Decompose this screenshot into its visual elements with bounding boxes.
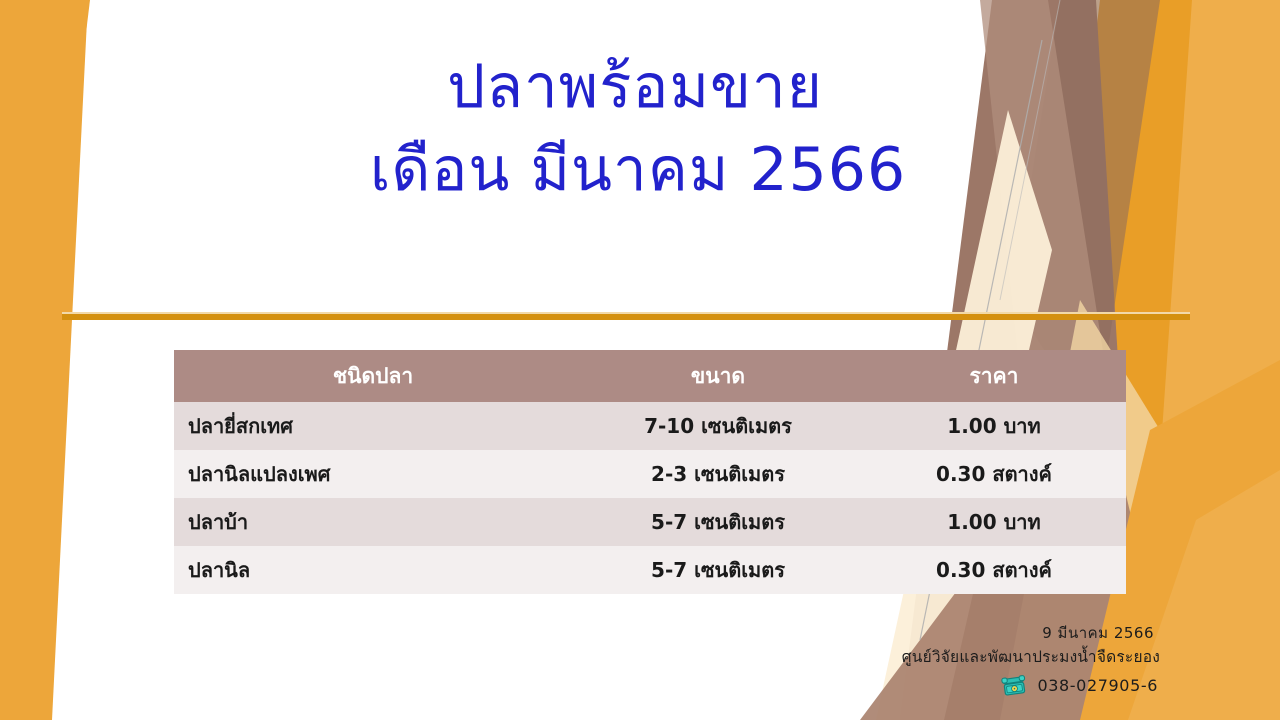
footer-phone-number: 038-027905-6 <box>1037 676 1158 695</box>
table-header-row: ชนิดปลา ขนาด ราคา <box>174 350 1126 402</box>
slide-canvas: ปลาพร้อมขาย เดือน มีนาคม 2566 ชนิดปลา ขน… <box>0 0 1280 720</box>
cell-size: 5-7 เซนติเมตร <box>574 546 862 594</box>
cell-price: 0.30 สตางค์ <box>862 450 1126 498</box>
cell-fish-type: ปลานิลแปลงเพศ <box>174 450 574 498</box>
cell-size: 2-3 เซนติเมตร <box>574 450 862 498</box>
cell-price: 1.00 บาท <box>862 402 1126 450</box>
table-row: ปลานิล 5-7 เซนติเมตร 0.30 สตางค์ <box>174 546 1126 594</box>
table-header: ชนิดปลา ขนาด ราคา <box>174 350 1126 402</box>
cell-price: 1.00 บาท <box>862 498 1126 546</box>
column-header-fish-type: ชนิดปลา <box>174 350 574 402</box>
column-header-size: ขนาด <box>574 350 862 402</box>
footer-organization: ศูนย์วิจัยและพัฒนาประมงน้ำจืดระยอง <box>902 645 1160 669</box>
table-row: ปลายี่สกเทศ 7-10 เซนติเมตร 1.00 บาท <box>174 402 1126 450</box>
gold-divider <box>62 312 1190 321</box>
table-row: ปลาบ้า 5-7 เซนติเมตร 1.00 บาท <box>174 498 1126 546</box>
footer-phone-row: 038-027905-6 <box>902 672 1158 698</box>
fish-price-table: ชนิดปลา ขนาด ราคา ปลายี่สกเทศ 7-10 เซนติ… <box>174 350 1126 594</box>
cell-price: 0.30 สตางค์ <box>862 546 1126 594</box>
gold-divider-line <box>62 314 1190 320</box>
column-header-price: ราคา <box>862 350 1126 402</box>
cell-size: 7-10 เซนติเมตร <box>574 402 862 450</box>
telephone-icon <box>1001 672 1027 698</box>
table-row: ปลานิลแปลงเพศ 2-3 เซนติเมตร 0.30 สตางค์ <box>174 450 1126 498</box>
table-body: ปลายี่สกเทศ 7-10 เซนติเมตร 1.00 บาท ปลาน… <box>174 402 1126 594</box>
cell-size: 5-7 เซนติเมตร <box>574 498 862 546</box>
cell-fish-type: ปลายี่สกเทศ <box>174 402 574 450</box>
footer-date: 9 มีนาคม 2566 <box>902 622 1154 645</box>
footer-block: 9 มีนาคม 2566 ศูนย์วิจัยและพัฒนาประมงน้ำ… <box>902 622 1160 698</box>
cell-fish-type: ปลาบ้า <box>174 498 574 546</box>
cell-fish-type: ปลานิล <box>174 546 574 594</box>
